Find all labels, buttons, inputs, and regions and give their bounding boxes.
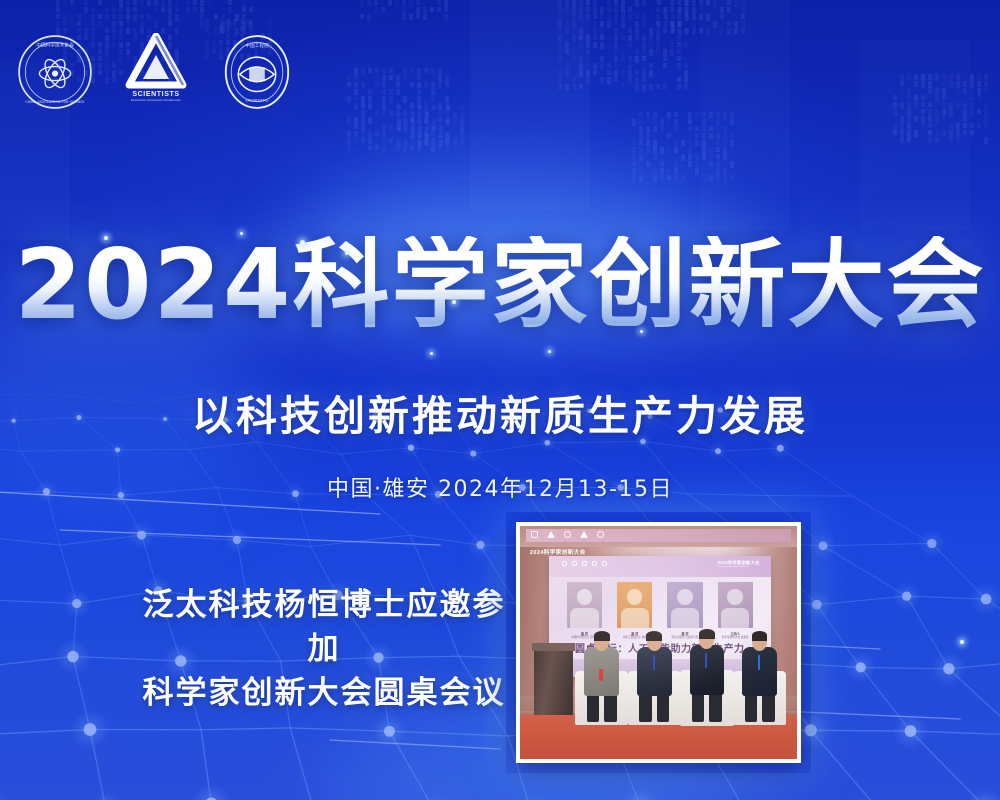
cityscape-block-row xyxy=(56,21,179,28)
screen-brand-title: 2024科学家创新大会 xyxy=(718,560,760,565)
poster-title: 2024科学家创新大会 xyxy=(0,236,1000,333)
cityscape-silhouette xyxy=(700,0,790,230)
panelist-1 xyxy=(581,629,623,722)
sparkle-dot xyxy=(300,240,305,245)
cityscape-block-row xyxy=(186,0,253,7)
panelist-leg-right xyxy=(657,692,669,722)
portrait-head xyxy=(627,589,643,605)
portrait-head xyxy=(577,589,593,605)
screen-brand: 2024科学家创新大会 Scientists Innovation Confer… xyxy=(718,560,760,568)
screen-icon-4 xyxy=(592,561,597,566)
sparkle-dot xyxy=(104,236,108,240)
cityscape-block-row xyxy=(397,133,464,140)
cityscape-block-row xyxy=(397,105,464,112)
speaker-portrait xyxy=(567,582,602,628)
triangle-logo-caption: SCIENTISTS xyxy=(132,91,179,98)
screen-icon-1 xyxy=(562,561,567,566)
panelist-4 xyxy=(739,629,781,722)
panelist-leg-right xyxy=(709,691,721,722)
cityscape-block-row xyxy=(56,7,179,14)
triangle-logo-subcaption: Scientists Innovation Conference xyxy=(131,98,181,102)
cityscape-silhouette xyxy=(470,0,590,210)
panelist-leg-left xyxy=(587,692,599,722)
sparkle-dot xyxy=(548,350,551,353)
photo-caption-line2: 科学家创新大会圆桌会议 xyxy=(128,671,520,715)
banner-icon-triangle xyxy=(547,531,555,538)
panelist-hair xyxy=(646,631,662,640)
portrait-body xyxy=(570,608,598,627)
svg-text:CHINA ASSOCIATION FOR SCIENCE: CHINA ASSOCIATION FOR SCIENCE xyxy=(25,100,84,104)
cityscape-block-row xyxy=(347,75,449,82)
cityscape-block-row xyxy=(397,126,464,133)
poster-meta-location-date: 中国·雄安 2024年12月13-15日 xyxy=(0,471,1000,503)
roundtable-panel-photo: 2024科学家创新大会 2024科学家创新大会 Scientists Innov… xyxy=(516,522,801,763)
cityscape-block-row xyxy=(205,19,272,26)
panelist-lanyard xyxy=(653,655,655,670)
sparkle-dot xyxy=(240,232,243,235)
speaker-portrait xyxy=(667,582,702,628)
panelist-leg-left xyxy=(692,691,704,722)
panelist-2 xyxy=(634,629,676,722)
photo-caption-line1: 泛太科技杨恒博士应邀参加 xyxy=(128,583,520,671)
screen-header-icons xyxy=(562,561,607,566)
panelist-leg-right xyxy=(762,692,774,722)
sparkle-dot xyxy=(345,252,348,255)
cityscape-block-row xyxy=(397,119,464,126)
cityscape-block-row xyxy=(397,112,464,119)
portrait-body xyxy=(621,608,649,627)
photo-caption: 泛太科技杨恒博士应邀参加 科学家创新大会圆桌会议 xyxy=(128,583,520,715)
cityscape-block-row xyxy=(360,0,448,7)
panelist-hair xyxy=(594,631,610,640)
poster-title-wrapper: 2024科学家创新大会 xyxy=(0,236,1000,333)
podium-top xyxy=(532,643,575,652)
sparkle-dot xyxy=(430,352,433,355)
portrait-body xyxy=(671,608,699,627)
cityscape-block-row xyxy=(347,89,449,96)
panelist-lanyard xyxy=(705,653,707,668)
panelist-hair xyxy=(752,631,768,640)
conference-poster: 中国科学技术协会 CHINA ASSOCIATION FOR SCIENCE S… xyxy=(0,0,1000,800)
banner-icon-circle xyxy=(564,531,571,538)
panelist-hair xyxy=(699,629,715,639)
portrait-head xyxy=(677,589,693,605)
cityscape-block-row xyxy=(56,0,179,7)
panelist-leg-left xyxy=(745,692,757,722)
screen-brand-subtitle: Scientists Innovation Conference xyxy=(718,566,760,568)
triangle-logo: SCIENTISTS Scientists Innovation Confere… xyxy=(120,33,192,111)
cityscape-block-row xyxy=(347,82,449,89)
cityscape-block-row xyxy=(56,14,179,21)
panelist-3 xyxy=(686,626,728,722)
organizer-logos: 中国科学技术协会 CHINA ASSOCIATION FOR SCIENCE S… xyxy=(16,32,296,112)
poster-subtitle: 以科技创新推动新质生产力发展 xyxy=(0,382,1000,442)
banner-icon-1 xyxy=(531,531,538,538)
speaker-portrait xyxy=(617,582,652,628)
triangle-icon xyxy=(125,33,187,89)
svg-text:中国工程院: 中国工程院 xyxy=(245,42,269,49)
hall-banner-icons xyxy=(531,531,604,538)
panelist-badge xyxy=(599,669,603,681)
cast-seal-logo: 中国科学技术协会 CHINA ASSOCIATION FOR SCIENCE xyxy=(16,32,94,112)
podium xyxy=(534,643,573,715)
cityscape-block-row xyxy=(347,68,449,75)
screen-icon-5 xyxy=(602,561,607,566)
portrait-head xyxy=(727,589,743,605)
banner-icon-triangle-2 xyxy=(580,531,588,538)
oval-seal-logo: 中国工程院 ENGINEERING xyxy=(218,32,296,112)
banner-icon-circle-2 xyxy=(597,531,604,538)
cityscape-block-row xyxy=(397,140,464,147)
cityscape-silhouette xyxy=(860,40,970,230)
photo-inner: 2024科学家创新大会 2024科学家创新大会 Scientists Innov… xyxy=(520,526,797,759)
hall-banner-title: 2024科学家创新大会 xyxy=(530,548,586,556)
cityscape-block-row xyxy=(360,14,448,21)
panelist-leg-left xyxy=(639,692,651,722)
portrait-body xyxy=(721,608,749,627)
svg-text:ENGINEERING: ENGINEERING xyxy=(246,99,269,103)
cityscape-block-row xyxy=(347,96,449,103)
screen-icon-2 xyxy=(572,561,577,566)
cityscape-block-row xyxy=(360,7,448,14)
panelist-lanyard xyxy=(758,655,760,670)
speaker-portrait xyxy=(718,582,753,628)
sparkle-dot xyxy=(960,640,964,644)
cityscape-block-row xyxy=(186,7,253,14)
sparkle-dot xyxy=(452,300,456,304)
sparkle-dot xyxy=(640,330,643,333)
panelist-leg-right xyxy=(604,692,616,722)
screen-icon-3 xyxy=(582,561,587,566)
